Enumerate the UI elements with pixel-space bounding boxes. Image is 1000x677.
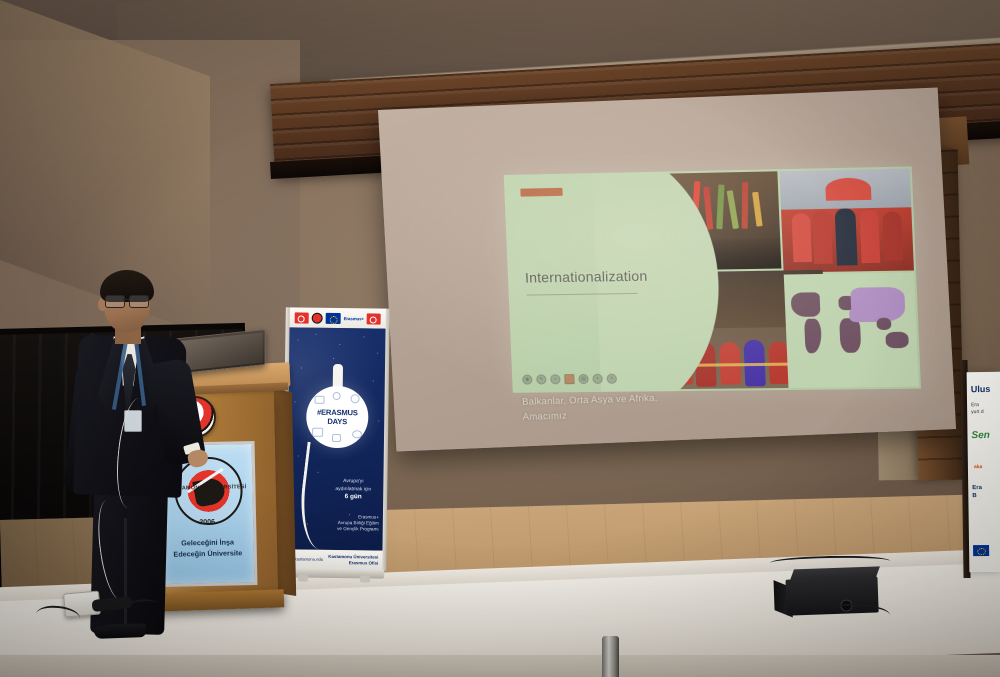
erasmus-wordmark: Erasmus+	[344, 316, 364, 321]
eyeglass-bridge	[123, 299, 130, 300]
banner-organization: Kastamonu Üniversitesi Erasmus Ofisi	[328, 554, 378, 566]
right-banner-line6: Era B	[972, 484, 982, 500]
turkish-flag-logo-2	[367, 313, 381, 324]
eyeglass-lens-left	[105, 295, 125, 308]
banner-foot-right	[360, 575, 370, 582]
eyeglasses-icon	[104, 295, 150, 306]
banner-artwork: #ERASMUS DAYS Avrupa'yı aydınlatmak için…	[286, 327, 385, 550]
projection-screen: Internationalization ◉ ✎ ⌕ ▤ • × Balkanl…	[378, 88, 956, 452]
banner-org-line1: Kastamonu Üniversitesi	[328, 554, 378, 560]
right-banner-line2: Era yurt d	[971, 402, 1000, 416]
screen-sheen	[378, 88, 956, 452]
banner-org-line2: Erasmus Ofisi	[349, 560, 379, 565]
right-banner-line7: B	[972, 493, 976, 499]
right-banner-line3: yurt d	[971, 409, 984, 415]
banner-foot-left	[298, 574, 308, 581]
banner-sub-line3: 6 gün	[345, 493, 362, 500]
eyeglass-lens-right	[129, 295, 149, 308]
erasmus-days-rollup-banner: Erasmus+	[286, 307, 386, 570]
turkish-flag-logo	[294, 312, 308, 323]
metal-post	[602, 636, 619, 677]
presenter-shoe	[94, 623, 146, 639]
banner-logo-strip: Erasmus+	[290, 307, 386, 328]
banner-program-mark: Erasmus+ Avrupa Birliği Eğitim ve Gençli…	[335, 514, 379, 533]
banner-subtext: Avrupa'yı aydınlatmak için 6 gün	[327, 478, 379, 502]
banner-headline-line2: DAYS	[327, 417, 347, 426]
right-banner-line2a: Era	[971, 402, 979, 408]
banner-headline: #ERASMUS DAYS	[306, 408, 368, 427]
right-partial-banner: Ulus Era yurt d Sen aka Era B	[967, 372, 1000, 572]
right-banner-line1: Ulus	[971, 384, 991, 394]
right-banner-line6a: Era	[972, 485, 982, 491]
photograph-scene: Internationalization ◉ ✎ ⌕ ▤ • × Balkanl…	[0, 0, 1000, 677]
banner-mark-line1: Erasmus+	[358, 514, 379, 519]
banner-mark-line2: Avrupa Birliği Eğitim ve Gençlik Program…	[337, 520, 379, 532]
banner-headline-line1: #ERASMUS	[317, 408, 358, 418]
banner-sub-line2: aydınlatmak için	[335, 485, 371, 492]
banner-sub-line1: Avrupa'yı	[343, 478, 364, 484]
eu-flag-logo	[325, 312, 340, 323]
banner-footer: @kastamonu.edu Kastamonu Üniversitesi Er…	[286, 549, 382, 570]
right-banner-line5: aka	[974, 464, 982, 470]
house-floor	[0, 655, 1000, 677]
right-banner-line4: Sen	[971, 430, 989, 441]
eu-flag-logo-right	[973, 545, 989, 556]
lightbulb-icon: #ERASMUS DAYS	[306, 386, 369, 449]
republic-seal-logo	[311, 312, 322, 323]
